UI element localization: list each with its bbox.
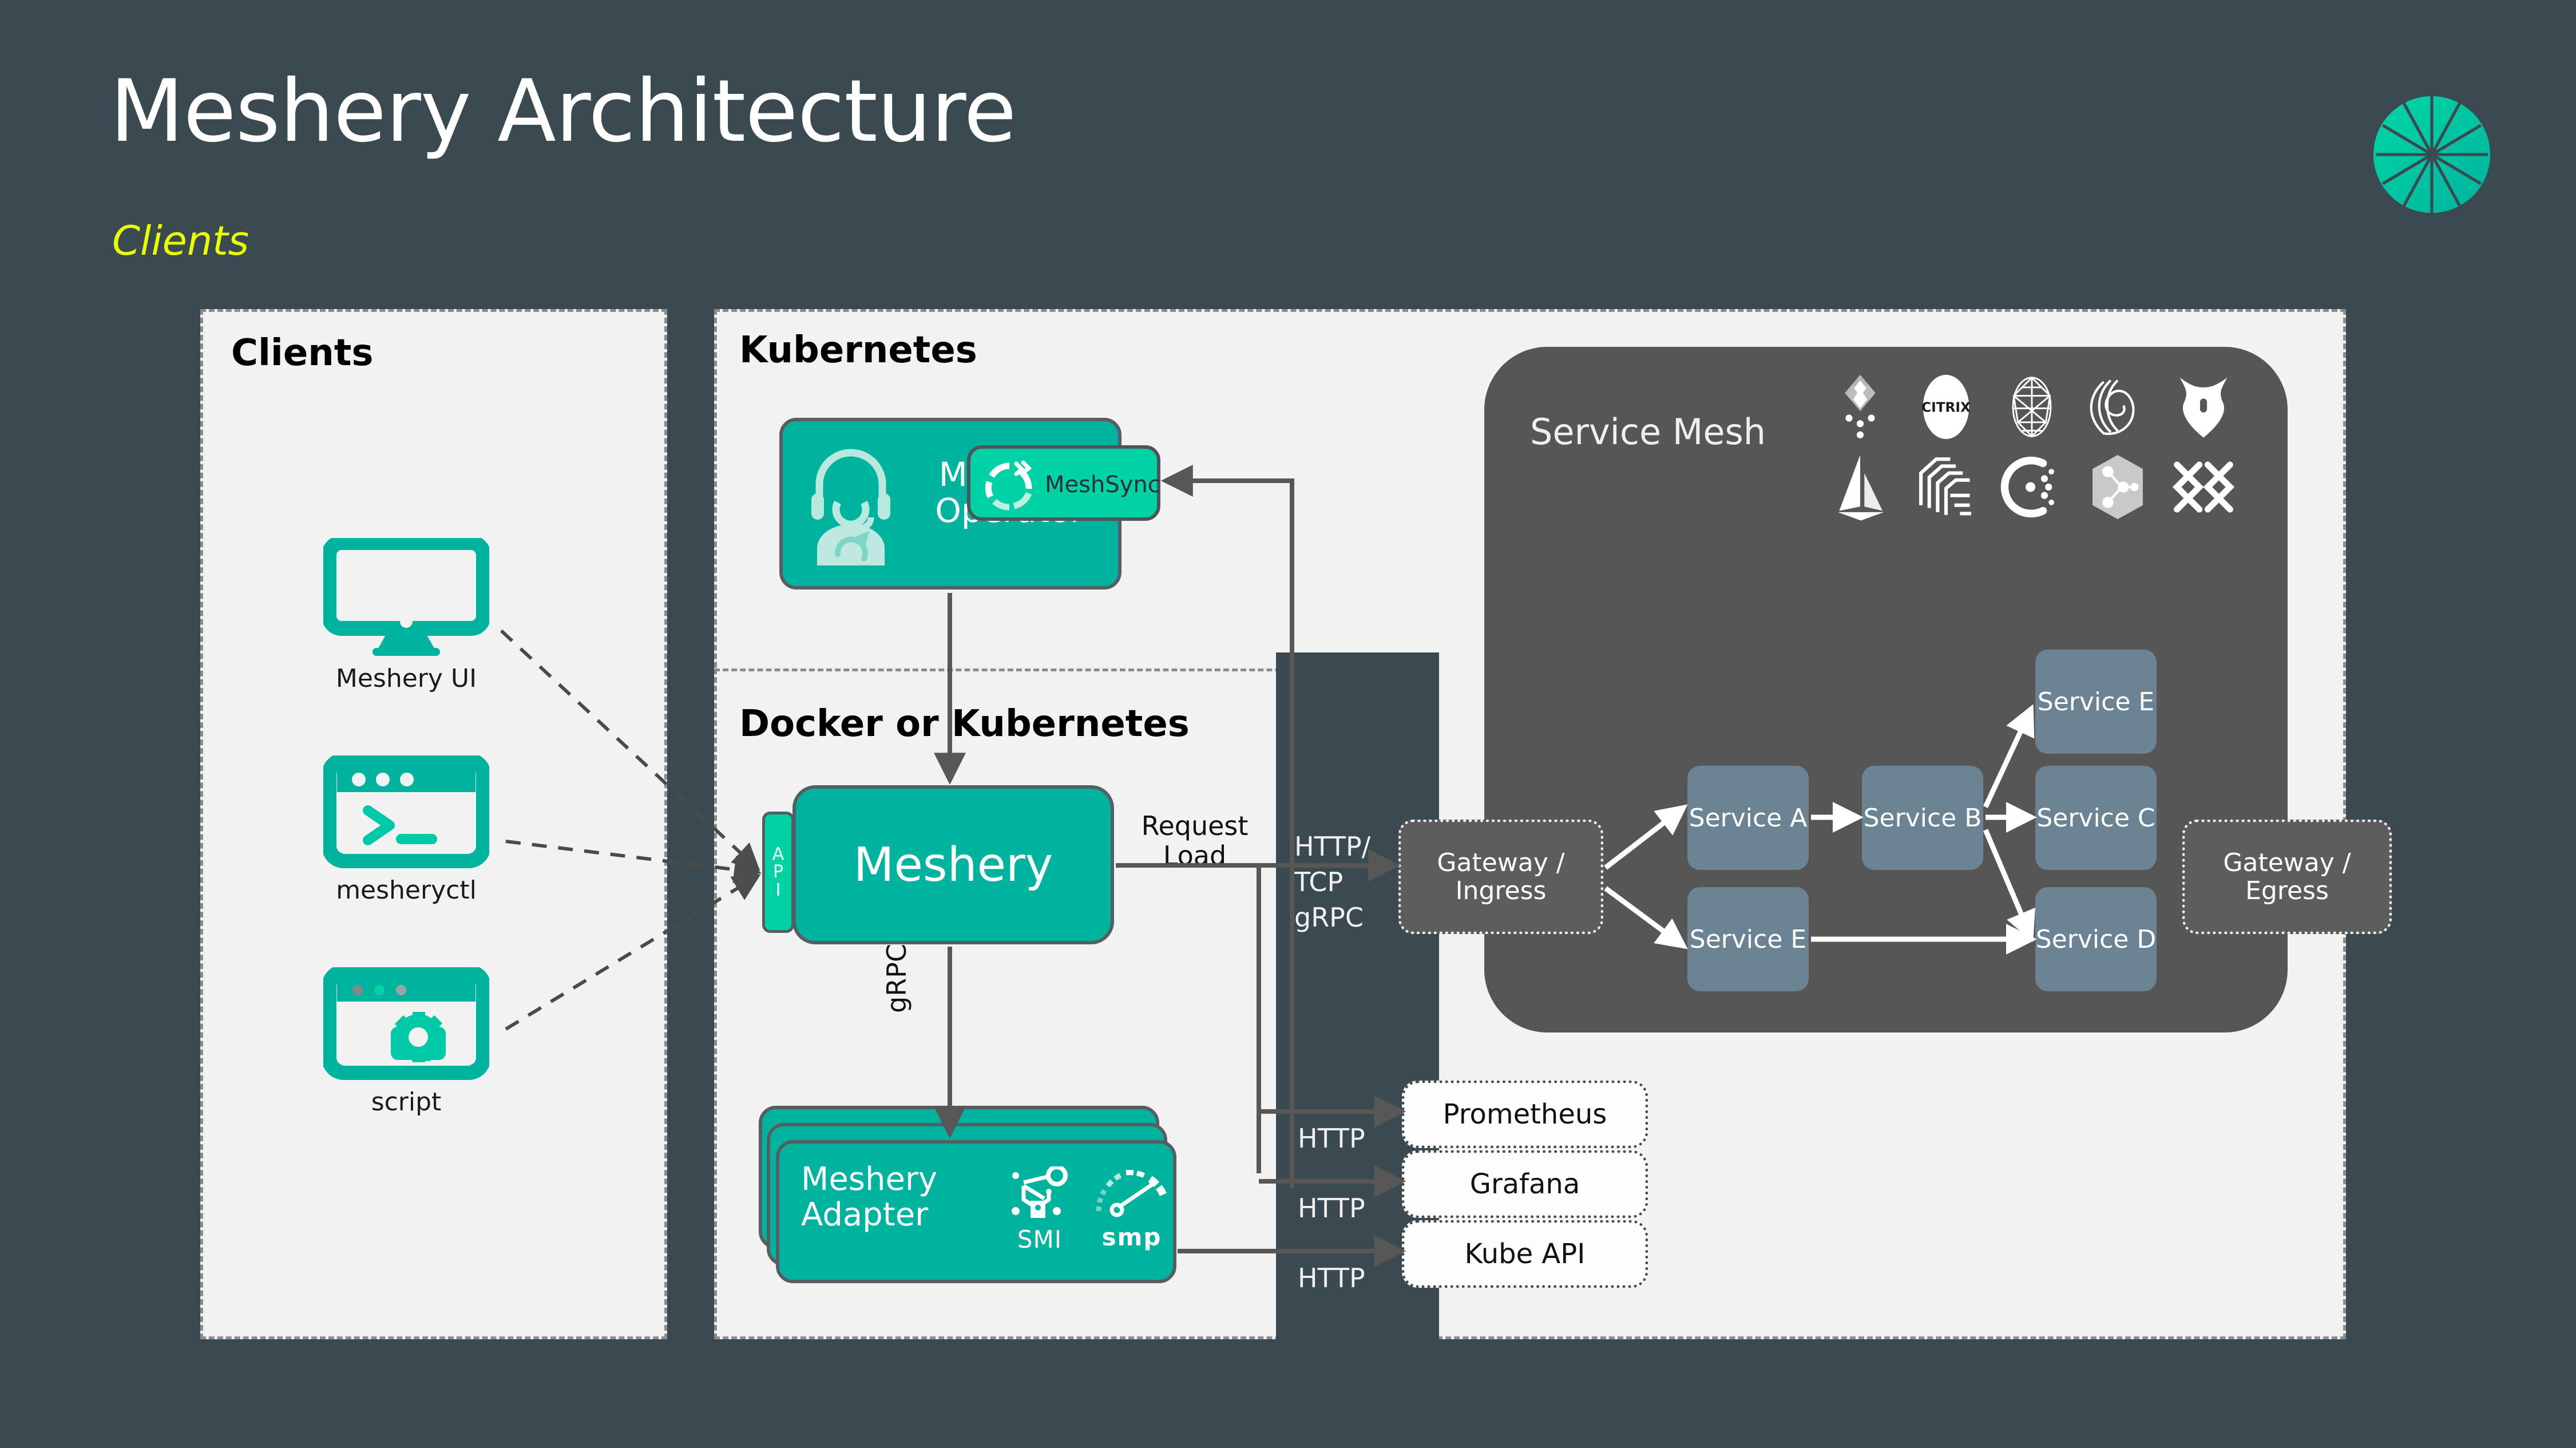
service-mesh-logo-grid: CITRIX bbox=[1825, 372, 2266, 532]
gear-window-icon bbox=[323, 967, 489, 1082]
page-title: Meshery Architecture bbox=[110, 69, 1016, 155]
edge-label-http-prometheus: HTTP bbox=[1298, 1123, 1365, 1154]
gateway-ingress-line2: Ingress bbox=[1456, 876, 1547, 905]
protocol-line1: HTTP/ bbox=[1294, 831, 1370, 862]
meshery-box[interactable]: Meshery bbox=[792, 785, 1114, 944]
panel-service-mesh-title: Service Mesh bbox=[1530, 411, 1766, 453]
client-label-meshery-ui: Meshery UI bbox=[320, 664, 492, 693]
gateway-egress-label: Gateway / Egress bbox=[2223, 849, 2351, 905]
service-box-a[interactable]: Service A bbox=[1687, 766, 1809, 870]
traefik-mesh-icon bbox=[2169, 452, 2238, 522]
smp-label: smp bbox=[1086, 1223, 1178, 1251]
smp-standard: smp bbox=[1086, 1166, 1178, 1251]
client-meshery-ui[interactable]: Meshery UI bbox=[320, 538, 492, 693]
page-subtitle: Clients bbox=[112, 217, 249, 264]
citrix-icon: CITRIX bbox=[1911, 372, 1981, 442]
service-box-b[interactable]: Service B bbox=[1862, 766, 1983, 870]
smp-gauge-icon bbox=[1094, 1166, 1170, 1224]
smi-standard: SMI bbox=[1002, 1166, 1077, 1253]
kuma-icon bbox=[2169, 372, 2238, 442]
service-box-e-bottom[interactable]: Service E bbox=[1687, 887, 1809, 991]
monitor-icon bbox=[323, 538, 489, 658]
gateway-ingress-box[interactable]: Gateway / Ingress bbox=[1398, 820, 1603, 934]
meshery-adapter-label: Meshery Adapter bbox=[801, 1162, 990, 1232]
client-label-script: script bbox=[320, 1087, 492, 1117]
smi-network-icon bbox=[1009, 1166, 1071, 1226]
mesh-logo-row-1: CITRIX bbox=[1825, 372, 2266, 442]
meshery-label: Meshery bbox=[796, 789, 1111, 941]
mesh-logo-row-2 bbox=[1825, 452, 2266, 522]
gateway-egress-line1: Gateway / bbox=[2223, 848, 2351, 877]
panel-kubernetes-title: Kubernetes bbox=[739, 329, 977, 371]
service-box-c[interactable]: Service C bbox=[2035, 766, 2157, 870]
service-box-d[interactable]: Service D bbox=[2035, 887, 2157, 991]
protocol-line2: TCP bbox=[1294, 867, 1343, 897]
client-label-mesheryctl: mesheryctl bbox=[320, 876, 492, 905]
network-service-mesh-icon bbox=[1911, 452, 1981, 522]
meshsync-label: MeshSync bbox=[1045, 472, 1160, 498]
panel-clients-title: Clients bbox=[231, 332, 374, 374]
meshsync-badge[interactable]: MeshSync bbox=[967, 445, 1160, 521]
request-load-line1: Request bbox=[1142, 810, 1249, 841]
adapter-label-line2: Adapter bbox=[801, 1196, 928, 1233]
app-mesh-hexagon-icon bbox=[2083, 452, 2153, 522]
protocol-line3: gRPC bbox=[1294, 902, 1364, 933]
client-script[interactable]: script bbox=[320, 967, 492, 1117]
panel-docker-title: Docker or Kubernetes bbox=[739, 703, 1190, 745]
slide-canvas: Meshery Architecture Clients Clients Kub… bbox=[0, 0, 2576, 1448]
sync-circle-icon bbox=[983, 460, 1036, 513]
edge-label-protocol-stack: HTTP/ TCP gRPC bbox=[1294, 829, 1420, 935]
edge-label-grpc: gRPC bbox=[881, 944, 912, 1013]
service-box-e-top[interactable]: Service E bbox=[2035, 650, 2157, 754]
gateway-ingress-label: Gateway / Ingress bbox=[1437, 849, 1564, 905]
headset-operator-icon bbox=[802, 448, 899, 568]
nginx-swirl-icon bbox=[2083, 372, 2153, 442]
consul-mesh-icon bbox=[1997, 372, 2067, 442]
linkerd-icon bbox=[1825, 372, 1895, 442]
edge-label-http-kubeapi: HTTP bbox=[1298, 1263, 1365, 1293]
kube-api-box[interactable]: Kube API bbox=[1402, 1220, 1648, 1288]
open-service-mesh-icon bbox=[1997, 452, 2067, 522]
api-letter-p: P bbox=[773, 863, 783, 881]
edge-label-http-grafana: HTTP bbox=[1298, 1193, 1365, 1224]
smi-label: SMI bbox=[1002, 1225, 1077, 1253]
gateway-egress-line2: Egress bbox=[2245, 876, 2329, 905]
edge-label-request-load: Request Load bbox=[1138, 812, 1252, 871]
prometheus-box[interactable]: Prometheus bbox=[1402, 1081, 1648, 1148]
grafana-box[interactable]: Grafana bbox=[1402, 1150, 1648, 1218]
api-letter-i: I bbox=[776, 881, 781, 900]
meshery-mesh-logo-icon bbox=[2373, 96, 2490, 213]
client-mesheryctl[interactable]: mesheryctl bbox=[320, 755, 492, 905]
adapter-label-line1: Meshery bbox=[801, 1161, 937, 1198]
request-load-line2: Load bbox=[1163, 840, 1226, 871]
gateway-egress-box[interactable]: Gateway / Egress bbox=[2182, 820, 2392, 934]
gateway-ingress-line1: Gateway / bbox=[1437, 848, 1564, 877]
terminal-window-icon bbox=[323, 755, 489, 870]
api-letter-a: A bbox=[772, 845, 784, 864]
citrix-wordmark: CITRIX bbox=[1921, 400, 1971, 416]
istio-sail-icon bbox=[1825, 452, 1895, 522]
meshery-api-tab[interactable]: A P I bbox=[762, 812, 794, 933]
